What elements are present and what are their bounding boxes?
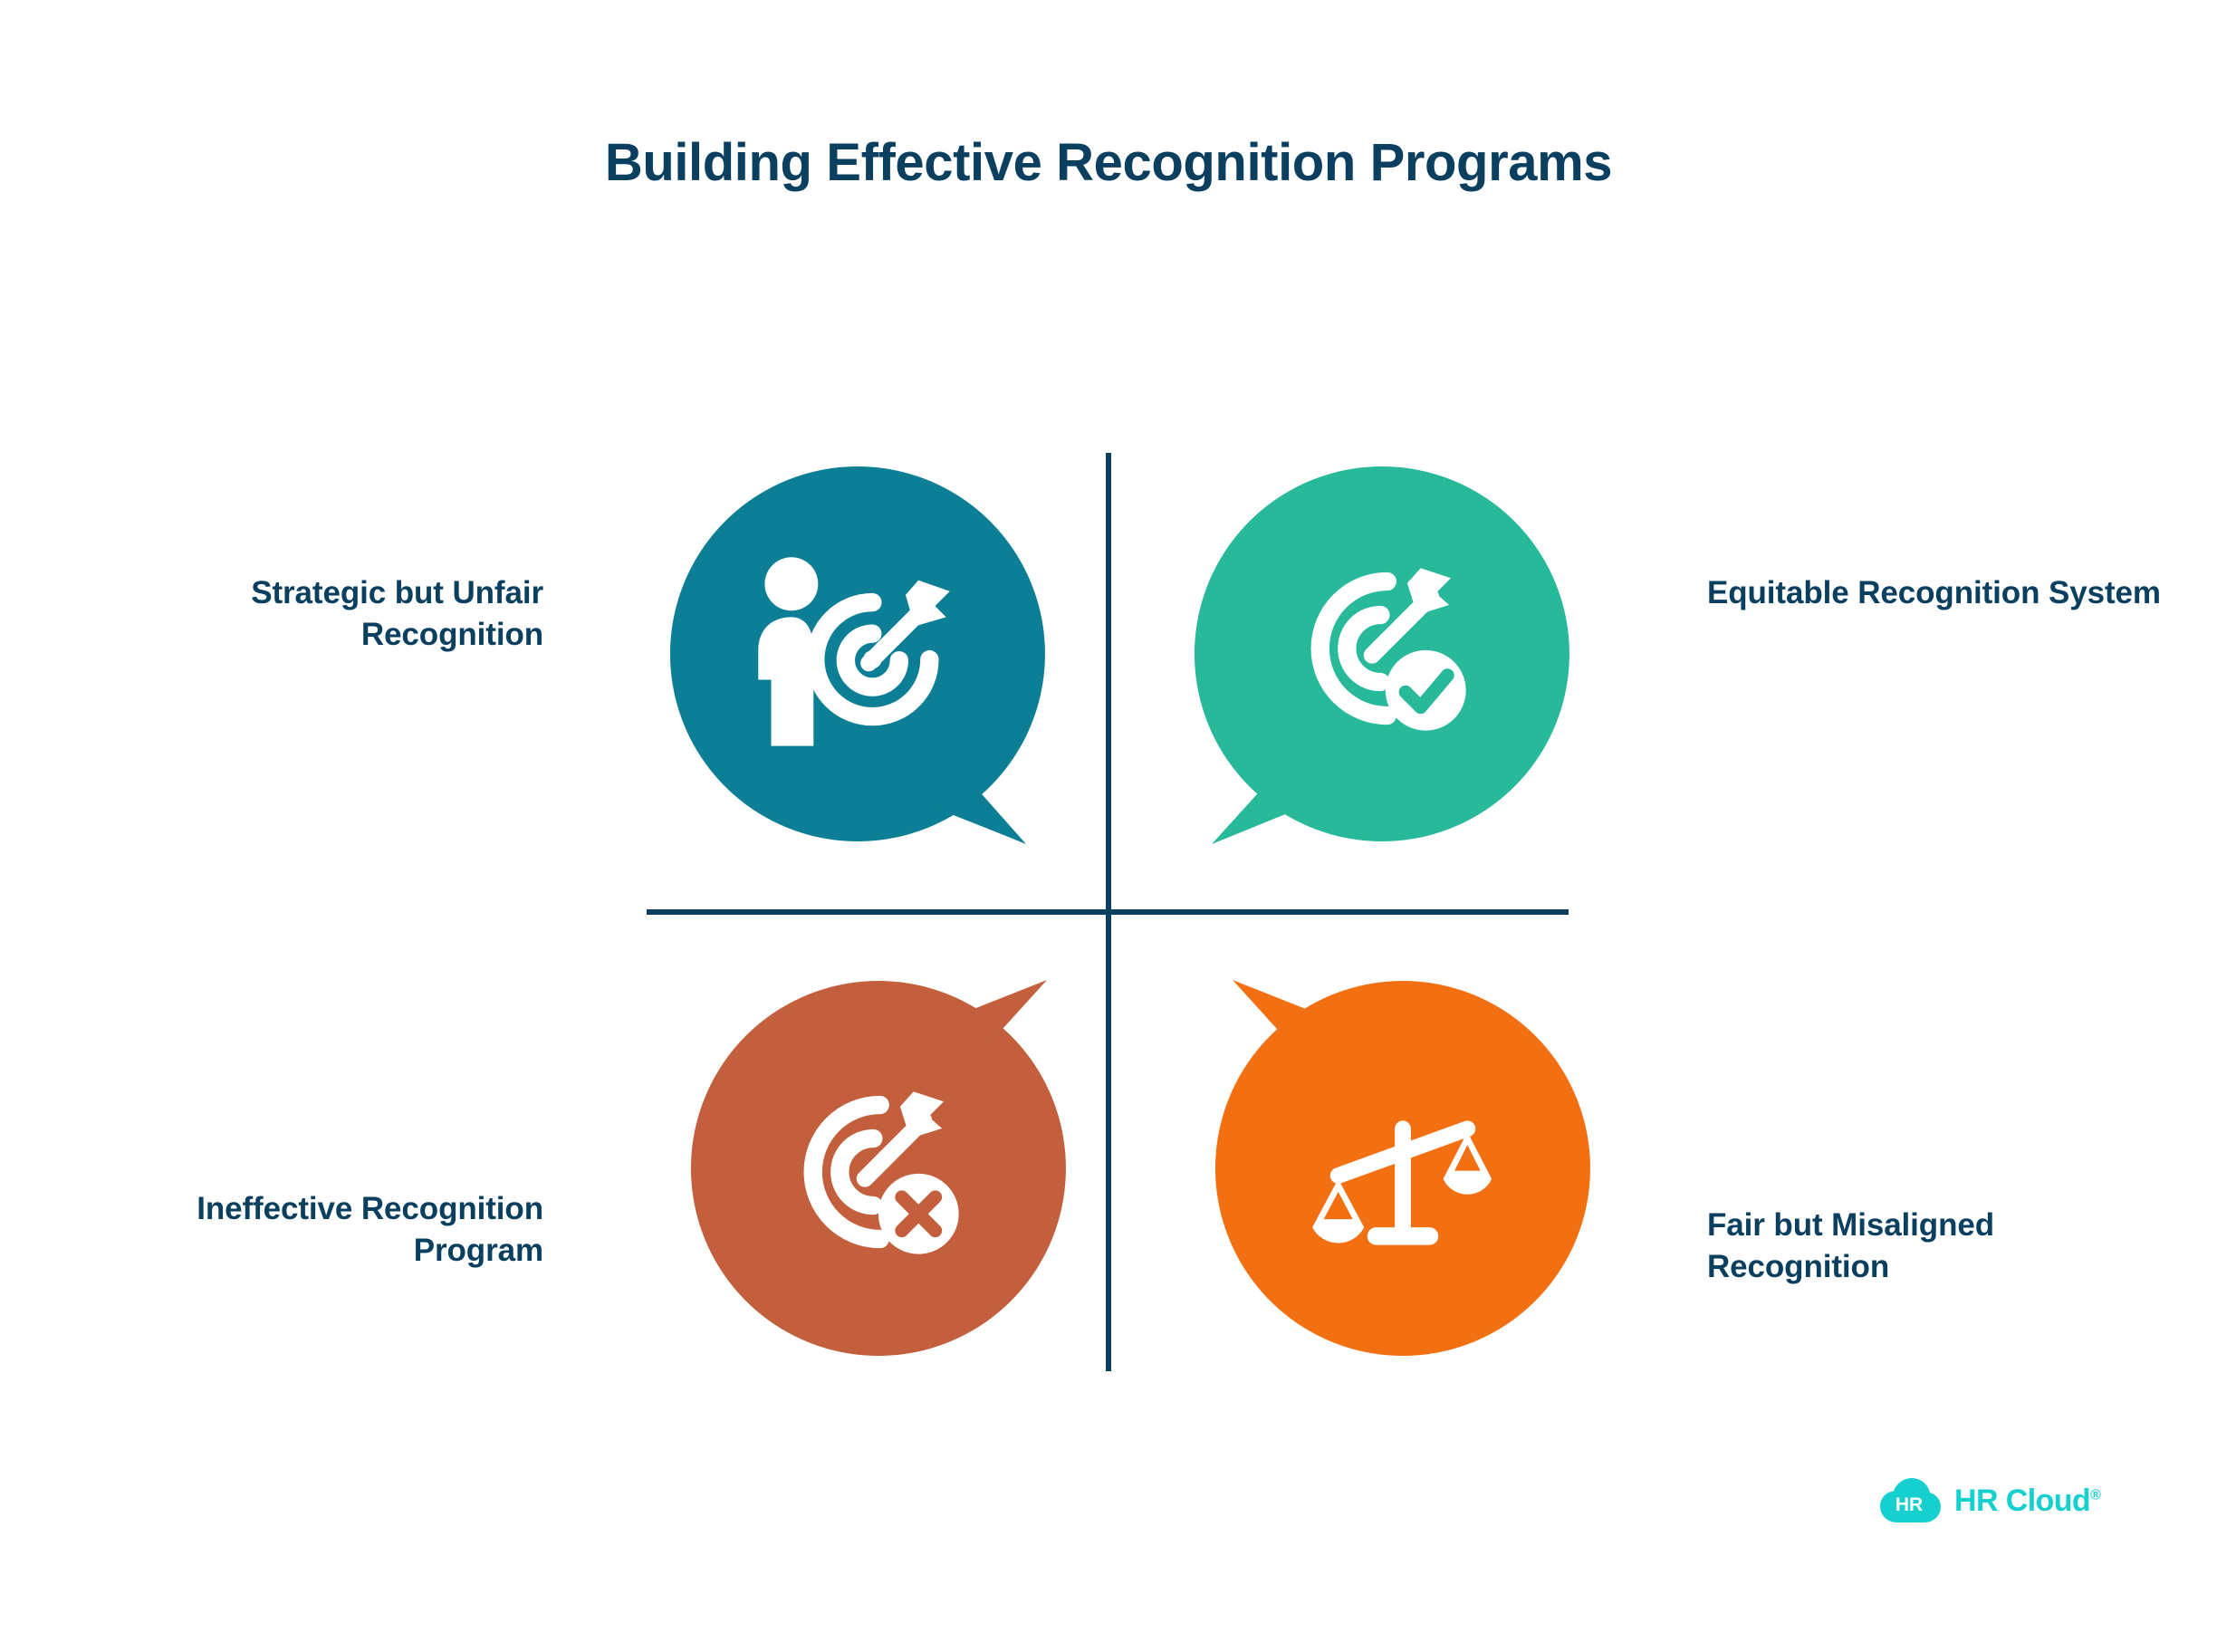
quadrant-label-equitable-system: Equitable Recognition System	[1707, 572, 2178, 614]
person-target-dart-icon	[744, 543, 965, 764]
hr-cloud-mark-text: HR	[1895, 1494, 1923, 1515]
horizontal-axis-line	[647, 909, 1569, 915]
quadrant-label-ineffective-program: Ineffective Recognition Program	[127, 1188, 543, 1272]
quadrant-bubble-fair-misaligned[interactable]	[1213, 978, 1593, 1359]
quadrant-label-strategic-unfair: Strategic but Unfair Recognition	[109, 572, 543, 656]
brand-wordmark: HR Cloud®	[1954, 1485, 2100, 1516]
quadrant-bubble-ineffective-program[interactable]	[688, 978, 1069, 1359]
brand-logo[interactable]: HR HR Cloud®	[1880, 1478, 2100, 1523]
page-title: Building Effective Recognition Programs	[0, 134, 2217, 192]
quadrant-bubble-equitable-system[interactable]	[1192, 464, 1572, 844]
target-dart-check-icon	[1283, 548, 1484, 749]
quadrant-axes	[0, 0, 2217, 1652]
quadrant-label-fair-misaligned: Fair but Misaligned Recognition	[1707, 1205, 2178, 1288]
brand-wordmark-text: HR Cloud	[1954, 1484, 2090, 1518]
balance-scales-icon	[1306, 1079, 1500, 1273]
brand-trademark: ®	[2090, 1488, 2100, 1503]
target-dart-cross-icon	[776, 1071, 977, 1273]
vertical-axis-line	[1106, 453, 1111, 1371]
quadrant-bubble-strategic-unfair[interactable]	[667, 464, 1048, 844]
hr-cloud-icon: HR	[1880, 1478, 1942, 1523]
